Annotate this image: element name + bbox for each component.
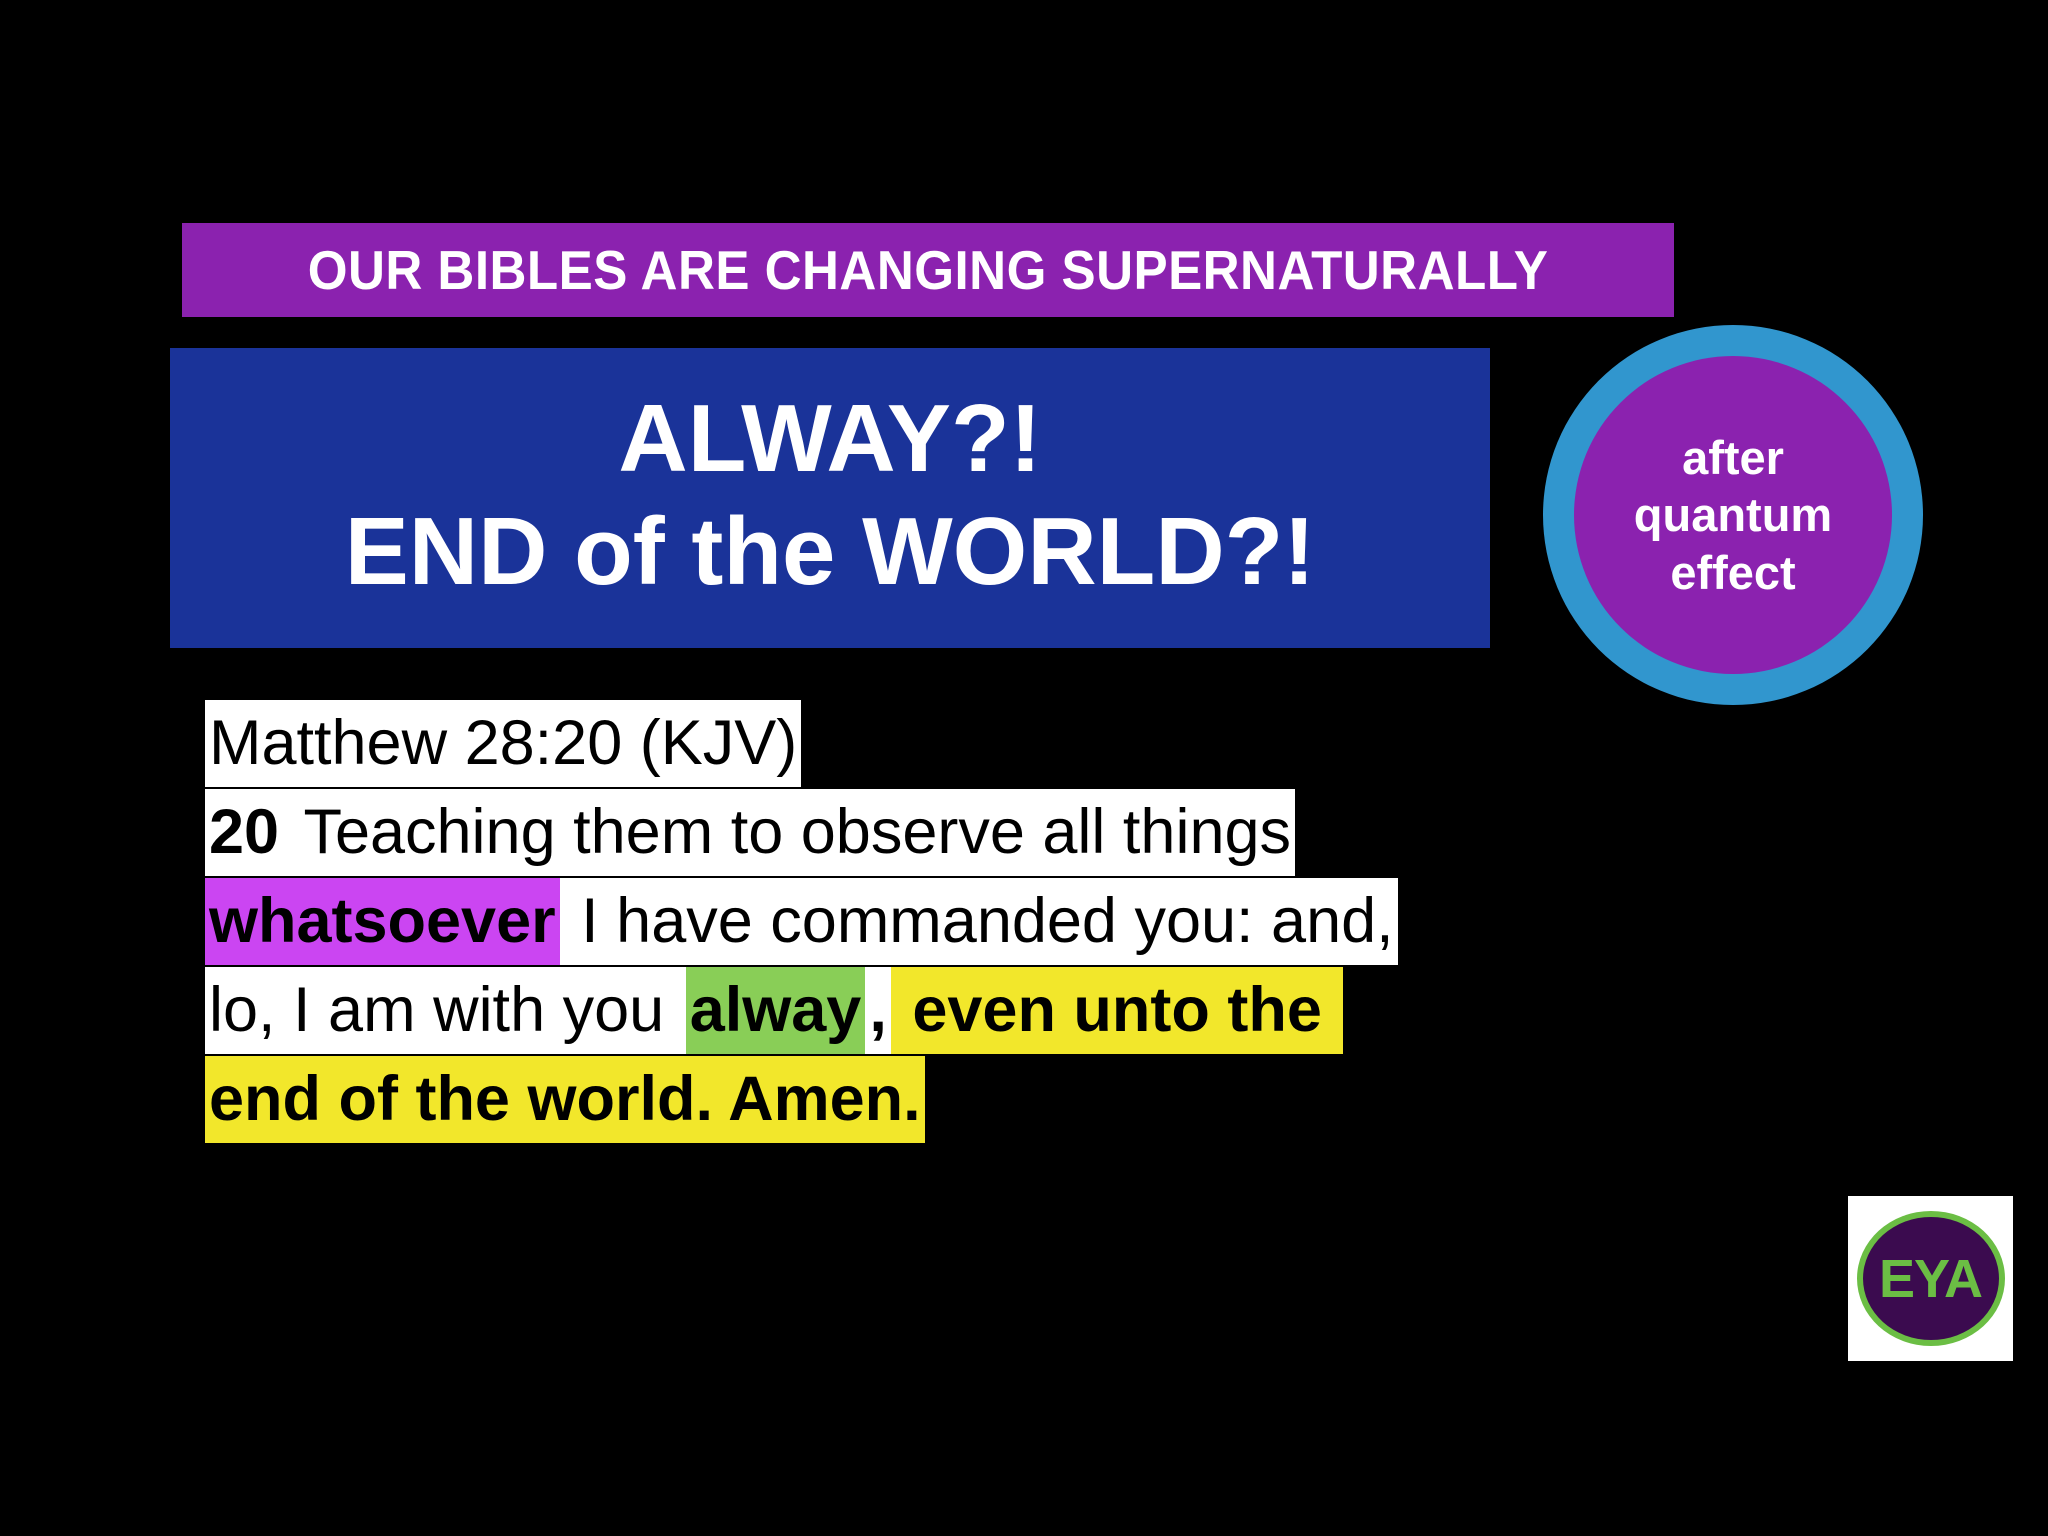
verse-line: Matthew 28:20 (KJV) [205,700,1845,787]
verse-segment: 20 [205,789,283,876]
after-quantum-effect-badge: after quantum effect [1543,325,1923,705]
badge-line-one: after [1682,429,1784,486]
badge-inner-circle: after quantum effect [1574,356,1892,674]
eya-logo-text: EYA [1879,1252,1982,1306]
verse-line: 20 Teaching them to observe all things [205,789,1845,876]
verse-segment: , [865,967,891,1054]
title-line-two: END of the WORLD?! [345,495,1316,608]
verse-line: lo, I am with you alway, even unto the [205,967,1845,1054]
verse-line: whatsoever I have commanded you: and, [205,878,1845,965]
verse-segment: Matthew 28:20 (KJV) [205,700,801,787]
scripture-block: Matthew 28:20 (KJV)20 Teaching them to o… [205,700,1845,1145]
headline-text: OUR BIBLES ARE CHANGING SUPERNATURALLY [308,243,1549,298]
verse-segment: lo, I am with you [205,967,686,1054]
title-box: ALWAY?! END of the WORLD?! [170,348,1490,648]
verse-segment: end of the world. Amen. [205,1056,925,1143]
badge-line-three: effect [1670,544,1795,601]
badge-line-two: quantum [1634,486,1832,543]
verse-segment: I have commanded you: and, [560,878,1398,965]
eya-logo-ellipse: EYA [1857,1211,2005,1346]
verse-segment: Teaching them to observe all things [283,789,1295,876]
slide-canvas: OUR BIBLES ARE CHANGING SUPERNATURALLY A… [0,0,2048,1536]
verse-segment: whatsoever [205,878,560,965]
verse-segment: even unto the [891,967,1344,1054]
headline-banner: OUR BIBLES ARE CHANGING SUPERNATURALLY [182,223,1674,317]
verse-segment: alway [686,967,866,1054]
eya-logo: EYA [1848,1196,2013,1361]
verse-line: end of the world. Amen. [205,1056,1845,1143]
title-line-one: ALWAY?! [618,382,1041,495]
